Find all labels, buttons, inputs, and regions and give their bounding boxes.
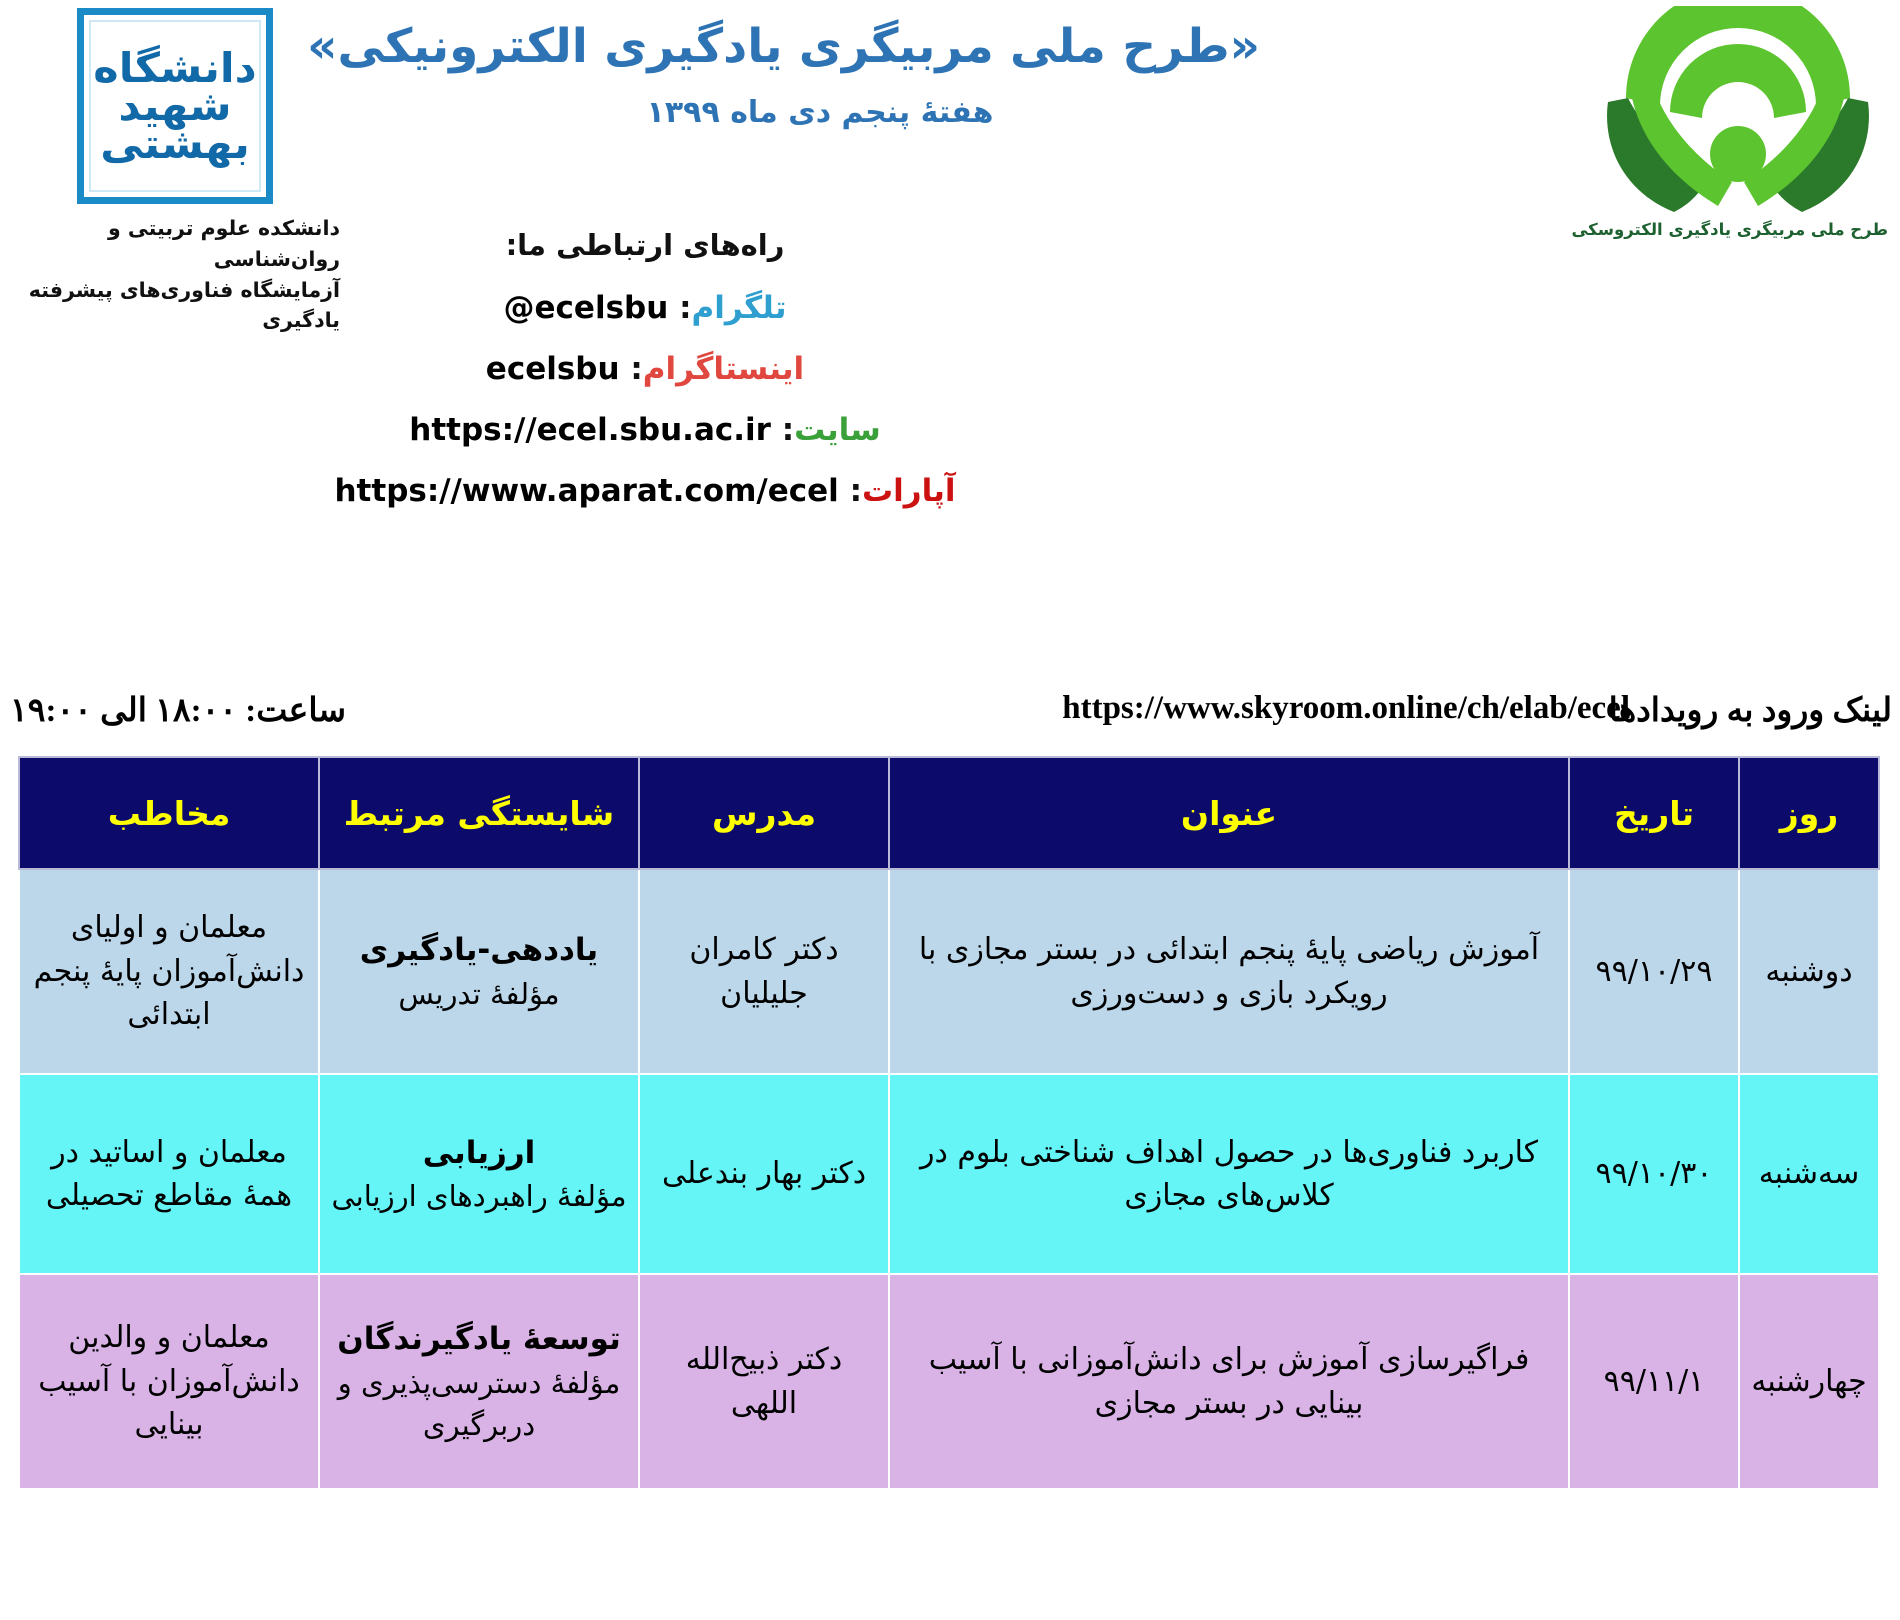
cell-day: سه‌شنبه	[1739, 1074, 1879, 1274]
schedule-table-head: روز تاریخ عنوان مدرس شایستگی مرتبط مخاطب	[19, 757, 1879, 869]
competency-main: توسعهٔ یادگیرندگان	[328, 1317, 630, 1362]
instagram-handle[interactable]: ecelsbu	[486, 351, 620, 387]
page-title: «طرح ملی مربیگری یادگیری الکترونیکی»	[380, 18, 1260, 77]
aparat-separator: :	[850, 473, 862, 509]
column-header-date: تاریخ	[1569, 757, 1739, 869]
cell-date: ۹۹/۱۱/۱	[1569, 1274, 1739, 1489]
title-block: «طرح ملی مربیگری یادگیری الکترونیکی» هفت…	[380, 18, 1260, 130]
cell-title: کاربرد فناوری‌ها در حصول اهداف شناختی بل…	[889, 1074, 1569, 1274]
cell-competency: ارزیابی مؤلفهٔ راهبردهای ارزیابی	[319, 1074, 639, 1274]
schedule-table-wrapper: روز تاریخ عنوان مدرس شایستگی مرتبط مخاطب…	[20, 756, 1880, 1490]
cell-title: فراگیرسازی آموزش برای دانش‌آموزانی با آس…	[889, 1274, 1569, 1489]
cell-teacher: دکتر کامران جلیلیان	[639, 869, 889, 1074]
aparat-label: آپارات	[862, 473, 956, 509]
page-subtitle: هفتهٔ پنجم دی ماه ۱۳۹۹	[380, 95, 1260, 130]
telegram-label: تلگرام	[692, 290, 787, 326]
column-header-title: عنوان	[889, 757, 1569, 869]
website-label: سایت	[794, 412, 881, 448]
instagram-separator: :	[630, 351, 642, 387]
aparat-url[interactable]: https://www.aparat.com/ecel	[334, 473, 838, 509]
website-url[interactable]: https://ecel.sbu.ac.ir	[409, 412, 771, 448]
instagram-label: اینستاگرام	[643, 351, 804, 387]
contact-block: راه‌های ارتباطی ما: تلگرام: @ecelsbu این…	[0, 228, 1290, 534]
contact-row-telegram: تلگرام: @ecelsbu	[0, 290, 1290, 326]
cell-day: چهارشنبه	[1739, 1274, 1879, 1489]
ecel-logo-icon	[1602, 199, 1874, 218]
ecel-logo-caption: طرح ملی مربیگری یادگیری الکتروسکی	[1588, 220, 1888, 239]
website-separator: :	[782, 412, 794, 448]
cell-title: آموزش ریاضی پایهٔ پنجم ابتدائی در بستر م…	[889, 869, 1569, 1074]
ecel-branding: طرح ملی مربیگری یادگیری الکتروسکی	[1588, 6, 1888, 239]
column-header-teacher: مدرس	[639, 757, 889, 869]
university-logo-calligraphy: دانشگاه شهید بهشتی	[87, 49, 263, 163]
schedule-table: روز تاریخ عنوان مدرس شایستگی مرتبط مخاطب…	[18, 756, 1880, 1490]
event-time-label: ساعت: ۱۸:۰۰ الی ۱۹:۰۰	[10, 690, 346, 730]
cell-day: دوشنبه	[1739, 869, 1879, 1074]
table-row: دوشنبه ۹۹/۱۰/۲۹ آموزش ریاضی پایهٔ پنجم ا…	[19, 869, 1879, 1074]
telegram-separator: :	[679, 290, 691, 326]
table-header-row: روز تاریخ عنوان مدرس شایستگی مرتبط مخاطب	[19, 757, 1879, 869]
contact-row-aparat: آپارات: https://www.aparat.com/ecel	[0, 473, 1290, 509]
competency-sub: مؤلفهٔ راهبردهای ارزیابی	[328, 1175, 630, 1217]
cell-date: ۹۹/۱۰/۳۰	[1569, 1074, 1739, 1274]
competency-main: یاددهی-یادگیری	[328, 928, 630, 973]
cell-date: ۹۹/۱۰/۲۹	[1569, 869, 1739, 1074]
cell-audience: معلمان و اولیای دانش‌آموزان پایهٔ پنجم ا…	[19, 869, 319, 1074]
schedule-table-body: دوشنبه ۹۹/۱۰/۲۹ آموزش ریاضی پایهٔ پنجم ا…	[19, 869, 1879, 1489]
telegram-handle[interactable]: @ecelsbu	[504, 290, 669, 326]
competency-main: ارزیابی	[328, 1131, 630, 1176]
event-link-url[interactable]: https://www.skyroom.online/ch/elab/ecel	[1062, 690, 1630, 727]
contact-heading: راه‌های ارتباطی ما:	[0, 228, 1290, 262]
column-header-day: روز	[1739, 757, 1879, 869]
event-info-bar: لینک ورود به رویدادها https://www.skyroo…	[0, 690, 1900, 750]
cell-audience: معلمان و والدین دانش‌آموزان با آسیب بینا…	[19, 1274, 319, 1489]
cell-competency: یاددهی-یادگیری مؤلفهٔ تدریس	[319, 869, 639, 1074]
university-logo-inner-frame: دانشگاه شهید بهشتی	[89, 20, 261, 192]
column-header-audience: مخاطب	[19, 757, 319, 869]
table-row: سه‌شنبه ۹۹/۱۰/۳۰ کاربرد فناوری‌ها در حصو…	[19, 1074, 1879, 1274]
table-row: چهارشنبه ۹۹/۱۱/۱ فراگیرسازی آموزش برای د…	[19, 1274, 1879, 1489]
cell-teacher: دکتر بهار بندعلی	[639, 1074, 889, 1274]
cell-teacher: دکتر ذبیح‌الله اللهی	[639, 1274, 889, 1489]
cell-competency: توسعهٔ یادگیرندگان مؤلفهٔ دسترسی‌پذیری و…	[319, 1274, 639, 1489]
contact-row-instagram: اینستاگرام: ecelsbu	[0, 351, 1290, 387]
column-header-competency: شایستگی مرتبط	[319, 757, 639, 869]
cell-audience: معلمان و اساتید در همهٔ مقاطع تحصیلی	[19, 1074, 319, 1274]
university-logo: دانشگاه شهید بهشتی	[77, 8, 273, 204]
contact-row-website: سایت: https://ecel.sbu.ac.ir	[0, 412, 1290, 448]
competency-sub: مؤلفهٔ تدریس	[328, 973, 630, 1015]
competency-sub: مؤلفهٔ دسترسی‌پذیری و دربرگیری	[328, 1362, 630, 1446]
event-link-label: لینک ورود به رویدادها	[1609, 690, 1892, 730]
